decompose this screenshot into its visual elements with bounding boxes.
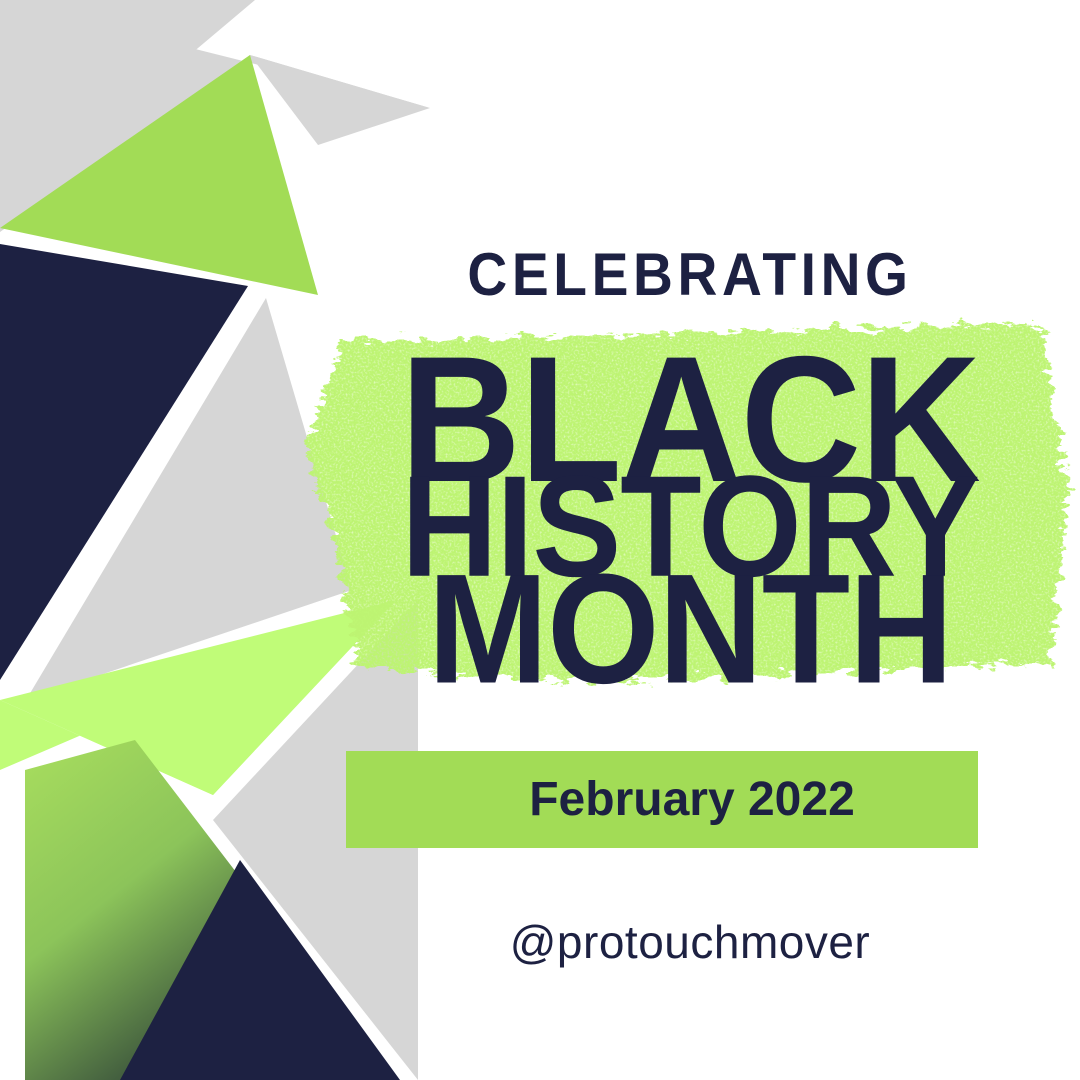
poster-canvas: CELEBRATING BLACK HISTORY MONTH February… bbox=[0, 0, 1080, 1080]
date-bar: February 2022 bbox=[346, 751, 978, 848]
green-triangle-top bbox=[0, 55, 318, 295]
date-label: February 2022 bbox=[346, 751, 978, 848]
navy-triangle-mid-left bbox=[0, 244, 248, 680]
eyebrow-celebrating: CELEBRATING bbox=[359, 244, 1021, 306]
gray-triangle-top-left bbox=[0, 0, 255, 215]
headline-line-month: MONTH bbox=[283, 552, 1080, 708]
social-handle: @protouchmover bbox=[330, 915, 1050, 969]
